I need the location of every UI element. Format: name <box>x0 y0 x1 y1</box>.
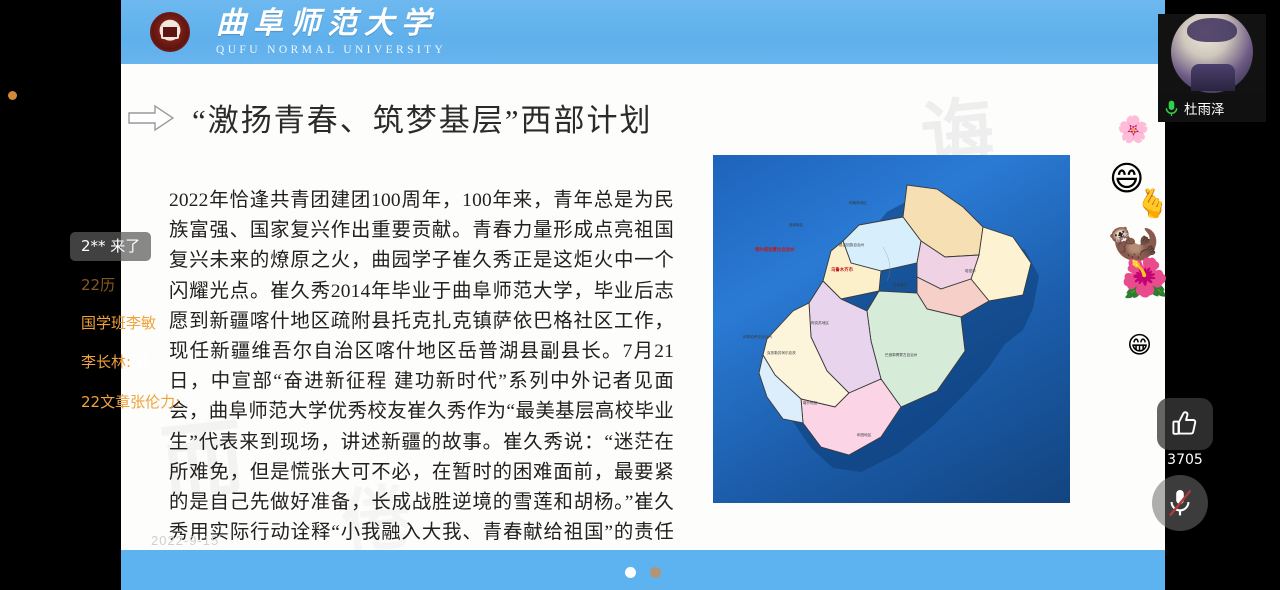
slide-date: 2022-9-15 <box>151 533 219 548</box>
map-region-label: 喀什地区 <box>803 401 817 406</box>
slide-header: 曲阜师范大学 QUFU NORMAL UNIVERSITY <box>121 0 1165 64</box>
map-region-label: 阿克苏地区 <box>811 321 829 326</box>
like-button[interactable] <box>1157 398 1213 450</box>
microphone-muted-icon <box>1165 487 1195 519</box>
self-participant-name: 杜雨泽 <box>1184 98 1225 118</box>
slide-footer-band <box>121 550 1165 590</box>
chat-message-sender: 22历 <box>81 276 115 294</box>
map-region-label: 塔城地区 <box>789 223 803 228</box>
university-name-cn: 曲阜师范大学 <box>216 8 446 40</box>
avatar <box>1171 14 1253 93</box>
thumbs-up-icon <box>1170 409 1200 439</box>
chat-message: 22历 <box>70 271 126 300</box>
map-region-label: 和田地区 <box>857 433 871 438</box>
self-video-tile[interactable]: 杜雨泽 <box>1158 14 1266 122</box>
self-tile-nameplate: 杜雨泽 <box>1158 94 1266 122</box>
microphone-on-icon <box>1165 100 1178 117</box>
map-region-label: 哈密市 <box>965 269 976 274</box>
map-region-label: 伊犁哈萨克自治州 <box>743 335 772 340</box>
map-region-label: 博尔塔拉蒙古自治州 <box>755 247 795 253</box>
xinjiang-map-image: 阿勒泰地区塔城地区博尔塔拉蒙古自治州昌吉回族自治州乌鲁木齐市哈密市吐鲁番市伊犁哈… <box>713 155 1070 503</box>
page-dot-1[interactable] <box>625 567 636 578</box>
like-count: 3705 <box>1157 452 1213 468</box>
map-region-label: 昌吉回族自治州 <box>839 243 864 248</box>
shared-slide[interactable]: 诲 不 人 不 厌 而 倦 曲阜师范大学 QUFU NORMAL UNIVERS… <box>121 0 1165 590</box>
mute-toggle-button[interactable] <box>1152 475 1208 531</box>
map-region-label: 巴音郭楞蒙古自治州 <box>885 353 917 358</box>
slide-title-row: “激扬青春、筑梦基层”西部计划 <box>121 95 1165 140</box>
map-region-label: 克孜勒苏柯尔克孜 <box>767 351 796 356</box>
page-title: “激扬青春、筑梦基层”西部计划 <box>192 95 653 140</box>
university-crest-icon <box>150 12 190 52</box>
map-region-label: 乌鲁木齐市 <box>831 267 853 273</box>
page-indicator[interactable] <box>121 567 1165 578</box>
xinjiang-map-svg <box>731 171 1053 483</box>
map-region-label: 吐鲁番市 <box>893 283 907 288</box>
university-name-en: QUFU NORMAL UNIVERSITY <box>216 44 446 56</box>
screen-root: 诲 不 人 不 厌 而 倦 曲阜师范大学 QUFU NORMAL UNIVERS… <box>0 0 1280 590</box>
right-arrow-icon <box>128 104 174 132</box>
map-region-label: 阿勒泰地区 <box>849 201 867 206</box>
status-dot <box>8 91 17 100</box>
slide-body-text: 2022年恰逢共青团建团100周年，100年来，青年总是为民族富强、国家复兴作出… <box>169 186 674 579</box>
university-name-block: 曲阜师范大学 QUFU NORMAL UNIVERSITY <box>216 8 446 57</box>
page-dot-2[interactable] <box>650 567 661 578</box>
